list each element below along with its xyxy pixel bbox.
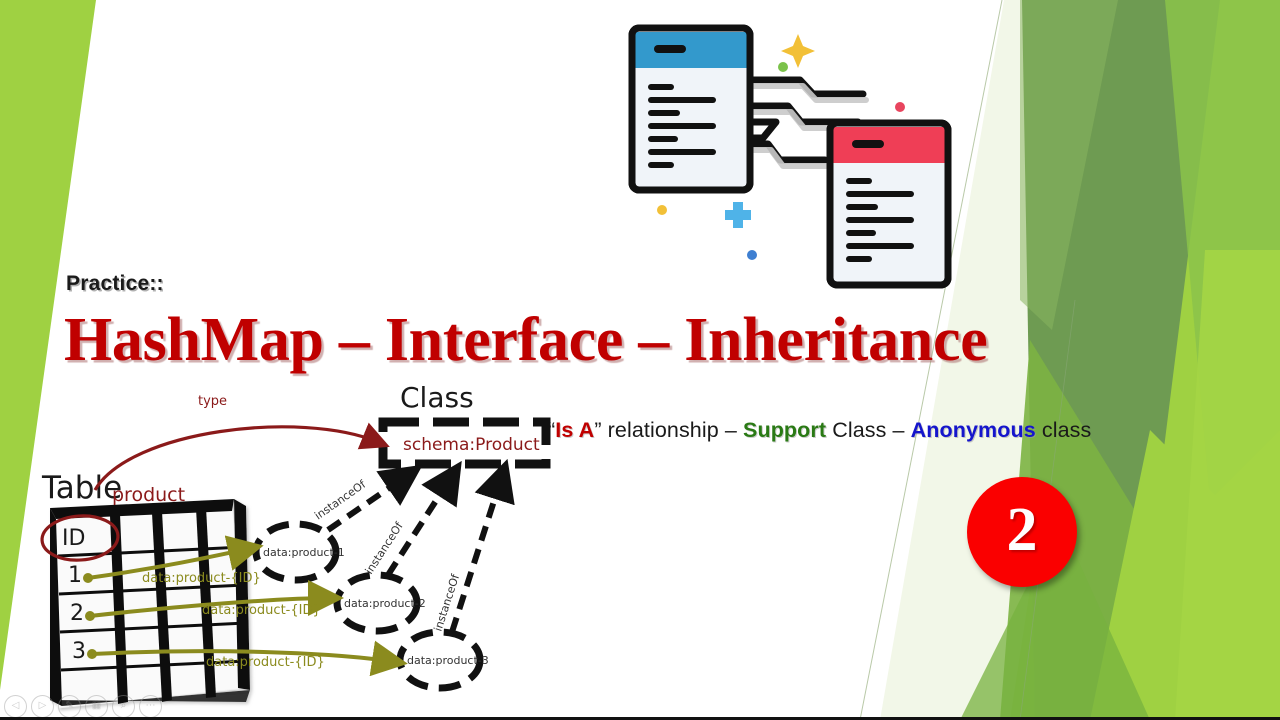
subtitle-part-6: class (1036, 418, 1092, 442)
mapping-edge-1-label: data:product-{ID} (142, 571, 261, 586)
instance-edge-3-label: instanceOf (431, 572, 462, 633)
mapping-edge-3-label: data:product-{ID} (206, 655, 325, 670)
mapping-edge-2-label: data:product-{ID} (202, 603, 321, 618)
hand-drawn-diagram: Table product ID 1 2 3 Class schema:Prod… (0, 370, 580, 720)
page-title: HashMap – Interface – Inheritance (64, 305, 987, 376)
instance-edge-2-label: instanceOf (363, 519, 407, 577)
two-linked-documents-illustration (620, 18, 980, 318)
page-eyebrow: Practice:: (66, 272, 164, 296)
instance-node-1: data:product-1 (256, 524, 345, 580)
zoom-tool-button[interactable]: ⌕ (112, 695, 135, 718)
subtitle-part-2: ” relationship – (594, 418, 743, 442)
more-options-button[interactable]: ⋯ (139, 695, 162, 718)
table-row-1: 1 (68, 563, 82, 588)
subtitle-part-3: Support (743, 418, 826, 442)
instance-node-1-label: data:product-1 (263, 546, 345, 559)
next-slide-button[interactable]: ▷ (31, 695, 54, 718)
instance-edge-2: instanceOf (363, 476, 452, 577)
class-label: Class (400, 381, 474, 414)
badge-number: 2 (1007, 499, 1038, 561)
subtitle-part-4: Class – (826, 418, 911, 442)
table-row-2: 2 (70, 601, 84, 626)
class-box: Class schema:Product (383, 381, 546, 464)
pen-tool-button[interactable]: ✎ (58, 695, 81, 718)
document-card-blue (632, 28, 750, 190)
type-edge: type (95, 394, 378, 490)
document-card-red (830, 123, 948, 285)
slideshow-toolbar[interactable]: ◁▷✎▦⌕⋯ (4, 694, 162, 718)
instance-node-2: data:product-2 (337, 575, 426, 631)
instance-node-3: data:product-3 (400, 632, 489, 688)
table-name-label: product (112, 484, 185, 506)
previous-slide-button[interactable]: ◁ (4, 695, 27, 718)
table-header-cell: ID (62, 526, 85, 551)
all-slides-button[interactable]: ▦ (85, 695, 108, 718)
table-label: Table (41, 470, 122, 506)
subtitle-part-5: Anonymous (911, 418, 1036, 442)
instance-node-3-label: data:product-3 (407, 654, 489, 667)
instance-node-2-label: data:product-2 (344, 597, 426, 610)
instance-edge-3: instanceOf (431, 476, 502, 633)
table-row-3: 3 (72, 639, 86, 664)
slide-number-badge: 2 (967, 477, 1077, 587)
class-box-text: schema:Product (403, 435, 540, 455)
subtitle-line: “Is A” relationship – Support Class – An… (548, 418, 1091, 443)
presentation-slide: Practice:: HashMap – Interface – Inherit… (0, 0, 1280, 720)
type-edge-label: type (198, 394, 227, 409)
instance-edge-1-label: instanceOf (312, 477, 369, 522)
